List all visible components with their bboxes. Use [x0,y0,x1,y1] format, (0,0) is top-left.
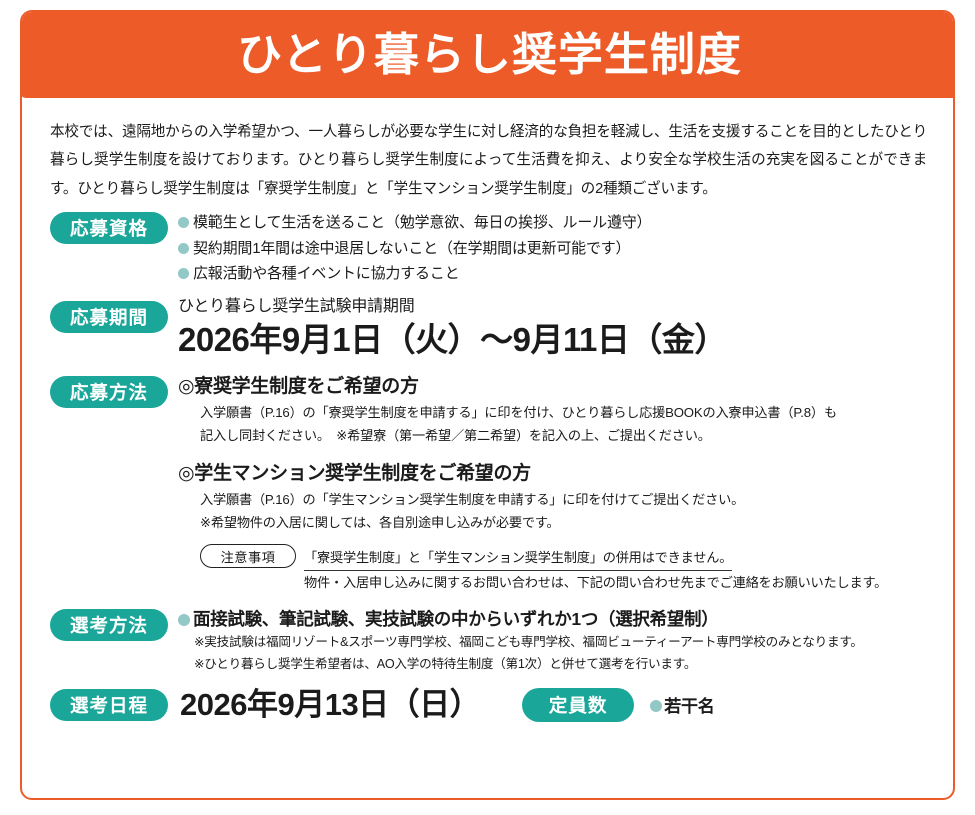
method-detail-line: ※希望物件の入居に関しては、各自別途申し込みが必要です。 [178,512,927,535]
qualification-badge-col: 応募資格 [50,211,178,244]
bullet-dot-icon [178,268,189,279]
bullet-dot-icon [178,614,190,626]
method-detail-line: 入学願書（P.16）の「寮奨学生制度を申請する」に印を付け、ひとり暮らし応援BO… [178,402,927,425]
method-block-mansion: ◎学生マンション奨学生制度をご希望の方 入学願書（P.16）の「学生マンション奨… [178,461,927,534]
card-body: 本校では、遠隔地からの入学希望かつ、一人暮らしが必要な学生に対し経済的な負担を軽… [22,100,953,722]
page-title: ひとり暮らし奨学生制度 [237,32,742,77]
method-detail-line: 入学願書（P.16）の「学生マンション奨学生制度を申請する」に印を付けてご提出く… [178,489,927,512]
page-root: ひとり暮らし奨学生制度 本校では、遠隔地からの入学希望かつ、一人暮らしが必要な学… [0,0,975,815]
selection-content: 面接試験、筆記試験、実技試験の中からいずれか1つ（選択希望制） ※実技試験は福岡… [178,607,927,676]
badge-notice: 注意事項 [200,544,296,568]
notice-line-1: 「寮奨学生制度」と「学生マンション奨学生制度」の併用はできません。 [304,546,732,571]
selection-badge-col: 選考方法 [50,607,178,641]
method-content: ◎寮奨学生制度をご希望の方 入学願書（P.16）の「寮奨学生制度を申請する」に印… [178,374,927,594]
section-qualification: 応募資格 模範生として生活を送ること（勉学意欲、毎日の挨拶、ルール遵守） 契約期… [50,211,927,287]
bullet-dot-icon [178,243,189,254]
selection-note: ※ひとり暮らし奨学生希望者は、AO入学の特待生制度（第1次）と併せて選考を行いま… [178,653,927,675]
badge-selection: 選考方法 [50,609,168,641]
bullet-dot-icon [178,217,189,228]
list-item: 広報活動や各種イベントに協力すること [178,262,927,286]
list-item: 模範生として生活を送ること（勉学意欲、毎日の挨拶、ルール遵守） [178,211,927,235]
notice-line-2: 物件・入居申し込みに関するお問い合わせは、下記の問い合わせ先までご連絡をお願いい… [304,571,927,594]
qualification-bullet-text: 広報活動や各種イベントに協力すること [193,262,459,286]
capacity-value-text: 若干名 [664,692,714,717]
selection-main-line: 面接試験、筆記試験、実技試験の中からいずれか1つ（選択希望制） [178,607,927,632]
qualification-bullet-text: 模範生として生活を送ること（勉学意欲、毎日の挨拶、ルール遵守） [193,211,651,235]
section-period: 応募期間 ひとり暮らし奨学生試験申請期間 2026年9月1日（火）〜9月11日（… [50,297,927,360]
period-subtitle: ひとり暮らし奨学生試験申請期間 [178,297,927,318]
badge-method: 応募方法 [50,376,168,408]
period-dates: 2026年9月1日（火）〜9月11日（金） [178,319,927,360]
method-badge-col: 応募方法 [50,374,178,408]
notice-text: 「寮奨学生制度」と「学生マンション奨学生制度」の併用はできません。 物件・入居申… [304,544,927,594]
badge-qualification: 応募資格 [50,212,168,244]
header-banner: ひとり暮らし奨学生制度 [20,10,955,98]
period-content: ひとり暮らし奨学生試験申請期間 2026年9月1日（火）〜9月11日（金） [178,297,927,360]
bullet-dot-icon [650,700,662,712]
capacity-value: 若干名 [650,692,714,717]
schedule-date: 2026年9月13日（日） [180,688,480,722]
scholarship-card: ひとり暮らし奨学生制度 本校では、遠隔地からの入学希望かつ、一人暮らしが必要な学… [20,10,955,800]
qualification-content: 模範生として生活を送ること（勉学意欲、毎日の挨拶、ルール遵守） 契約期間1年間は… [178,211,927,287]
selection-main-text: 面接試験、筆記試験、実技試験の中からいずれか1つ（選択希望制） [193,607,718,632]
qualification-bullet-text: 契約期間1年間は途中退居しないこと（在学期間は更新可能です） [193,237,630,261]
badge-period: 応募期間 [50,301,168,333]
selection-note: ※実技試験は福岡リゾート&スポーツ専門学校、福岡こども専門学校、福岡ビューティー… [178,631,927,653]
section-selection: 選考方法 面接試験、筆記試験、実技試験の中からいずれか1つ（選択希望制） ※実技… [50,607,927,676]
section-schedule: 選考日程 2026年9月13日（日） 定員数 若干名 [50,688,927,722]
badge-capacity: 定員数 [522,688,634,722]
method-heading: ◎学生マンション奨学生制度をご希望の方 [178,461,927,487]
list-item: 契約期間1年間は途中退居しないこと（在学期間は更新可能です） [178,237,927,261]
badge-schedule: 選考日程 [50,689,168,721]
intro-paragraph: 本校では、遠隔地からの入学希望かつ、一人暮らしが必要な学生に対し経済的な負担を軽… [50,118,927,203]
method-block-dormitory: ◎寮奨学生制度をご希望の方 入学願書（P.16）の「寮奨学生制度を申請する」に印… [178,374,927,447]
notice-block: 注意事項 「寮奨学生制度」と「学生マンション奨学生制度」の併用はできません。 物… [178,544,927,594]
period-badge-col: 応募期間 [50,297,178,333]
method-detail-line: 記入し同封ください。 ※希望寮（第一希望／第二希望）を記入の上、ご提出ください。 [178,425,927,448]
method-heading: ◎寮奨学生制度をご希望の方 [178,374,927,400]
section-method: 応募方法 ◎寮奨学生制度をご希望の方 入学願書（P.16）の「寮奨学生制度を申請… [50,374,927,594]
notice-line-1-wrapper: 「寮奨学生制度」と「学生マンション奨学生制度」の併用はできません。 [304,546,927,571]
